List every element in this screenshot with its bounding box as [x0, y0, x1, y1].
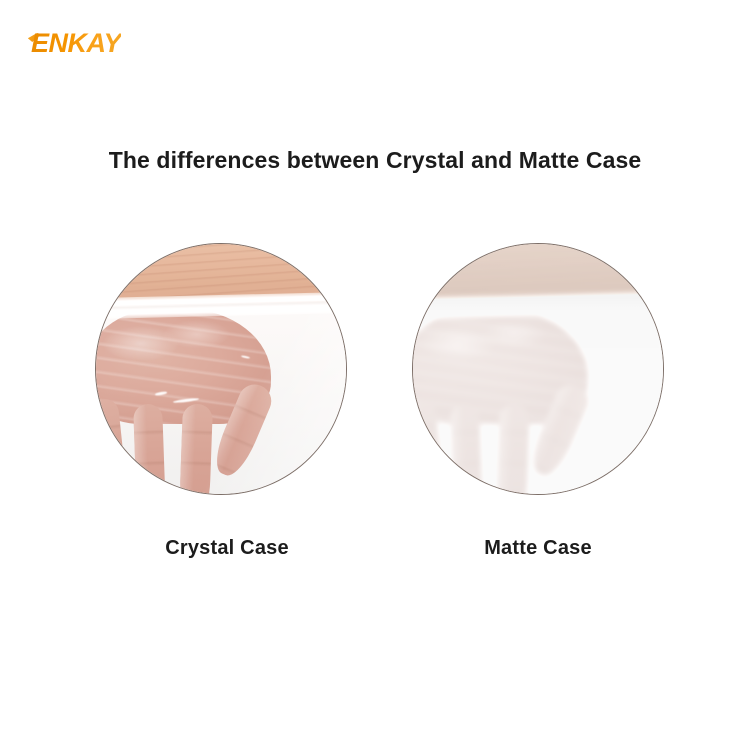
glass-sheen — [95, 309, 347, 495]
brand-name: ENKAY — [31, 30, 121, 57]
crystal-case-photo — [95, 243, 347, 495]
caption-crystal-case: Crystal Case — [101, 537, 353, 560]
matte-case-photo — [412, 243, 664, 495]
comparison-row — [0, 243, 750, 503]
crystal-scene — [95, 243, 347, 495]
comparison-item-crystal — [95, 243, 347, 495]
glass-sheen — [412, 309, 664, 495]
comparison-item-matte — [412, 243, 664, 495]
matte-scene — [412, 243, 664, 495]
page-title: The differences between Crystal and Matt… — [0, 146, 750, 175]
caption-matte-case: Matte Case — [412, 537, 664, 560]
